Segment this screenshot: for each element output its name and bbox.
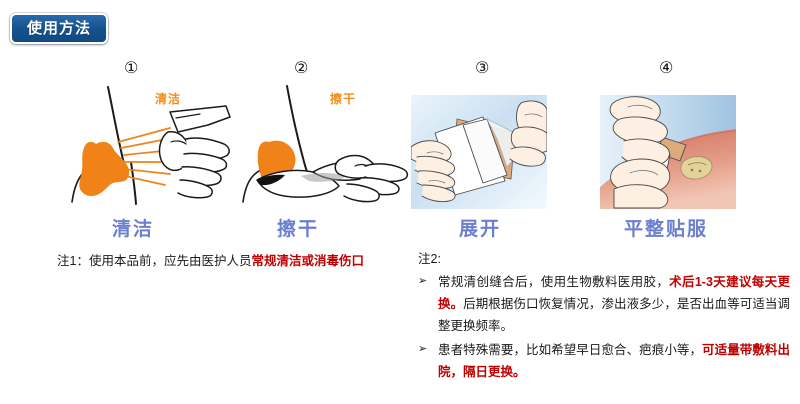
note-2-item-text: 常规清创缝合后，使用生物敷料医用胶，术后1-3天建议每天更换。后期根据伤口恢复情… [438, 272, 790, 338]
note-2-heading: 注2: [418, 250, 790, 269]
caption-step-1: 清洁 [112, 220, 154, 239]
note-2-item-part1: 常规清创缝合后，使用生物敷料医用胶， [438, 275, 669, 289]
step-number-2: ② [294, 60, 308, 76]
note-2-item-part2: 后期根据伤口恢复情况，渗出液多少，是否出血等可适当调整更换频率。 [438, 297, 790, 333]
note-2-item-part1: 患者特殊需要，比如希望早日愈合、疤痕小等， [438, 343, 702, 357]
arrow-bullet-icon: ➢ [418, 340, 438, 359]
photo-step-4-apply [600, 95, 736, 209]
illustration-step-2-dry [235, 84, 415, 206]
note-1: 注1：使用本品前，应先由医护人员常规清洁或消毒伤口 [57, 252, 364, 271]
arrow-bullet-icon: ➢ [418, 272, 438, 291]
section-title-badge: 使用方法 [10, 13, 108, 44]
slide-root: 使用方法 ① ② ③ ④ [0, 0, 800, 404]
illustration-label-dry: 擦干 [330, 93, 356, 105]
note-1-prefix: 注1：使用本品前，应先由医护人员 [57, 254, 251, 268]
caption-step-4: 平整贴服 [624, 220, 708, 239]
note-2-item-text: 患者特殊需要，比如希望早日愈合、疤痕小等，可适量带敷料出院，隔日更换。 [438, 340, 790, 384]
step-number-1: ① [124, 60, 138, 76]
note-2-item: ➢ 患者特殊需要，比如希望早日愈合、疤痕小等，可适量带敷料出院，隔日更换。 [418, 340, 790, 384]
caption-step-2: 擦干 [277, 220, 319, 239]
step-number-4: ④ [659, 60, 673, 76]
caption-step-3: 展开 [459, 220, 501, 239]
page-title: 使用方法 [27, 21, 91, 36]
photo-step-3-unfold [411, 95, 547, 209]
note-1-highlight: 常规清洁或消毒伤口 [251, 254, 364, 268]
illustration-label-clean: 清洁 [155, 93, 181, 105]
note-2-item: ➢ 常规清创缝合后，使用生物敷料医用胶，术后1-3天建议每天更换。后期根据伤口恢… [418, 272, 790, 338]
note-2: 注2: ➢ 常规清创缝合后，使用生物敷料医用胶，术后1-3天建议每天更换。后期根… [418, 250, 790, 386]
step-number-3: ③ [475, 60, 489, 76]
illustration-step-1-clean [58, 84, 233, 206]
